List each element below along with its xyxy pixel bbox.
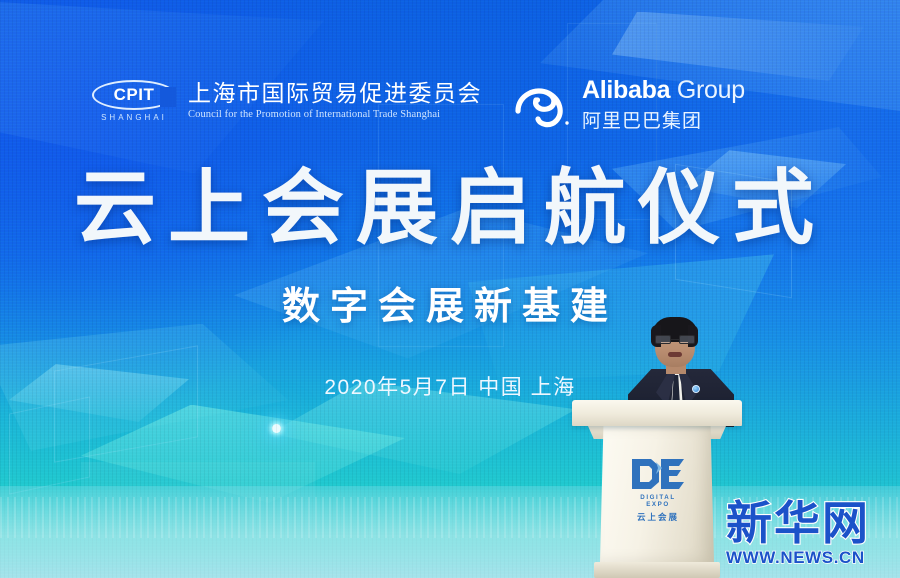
photo-canvas: CPIT SHANGHAI 上海市国际贸易促进委员会 Council for t… bbox=[0, 0, 900, 578]
podium-shoulder-right bbox=[710, 426, 726, 439]
alibaba-logo-text: Alibaba Group 阿里巴巴集团 bbox=[582, 76, 745, 133]
event-dateline: 2020年5月7日 中国 上海 bbox=[0, 371, 900, 401]
cpit-english-name: Council for the Promotion of Internation… bbox=[188, 109, 482, 120]
cpit-chinese-name: 上海市国际贸易促进委员会 bbox=[188, 81, 482, 105]
podium: DIGITAL EXPO 云上会展 bbox=[572, 400, 742, 578]
speaker-glasses-icon bbox=[655, 335, 695, 344]
cpit-mark-subtext: SHANGHAI bbox=[92, 113, 176, 122]
cpit-shanghai-logo: CPIT SHANGHAI 上海市国际贸易促进委员会 Council for t… bbox=[92, 80, 482, 122]
cpit-logo-text: 上海市国际贸易促进委员会 Council for the Promotion o… bbox=[188, 80, 482, 120]
event-headline: 云上会展启航仪式 bbox=[0, 168, 900, 250]
cpit-logo-mark: CPIT SHANGHAI bbox=[92, 80, 176, 122]
xinhua-chinese-name: 新华网 bbox=[726, 500, 894, 546]
alibaba-group-word: Group bbox=[677, 76, 745, 104]
digital-expo-monogram-icon bbox=[631, 458, 685, 490]
podium-logo: DIGITAL EXPO 云上会展 bbox=[630, 458, 686, 523]
speaker-mouth bbox=[668, 352, 682, 357]
alibaba-group-logo: Alibaba Group 阿里巴巴集团 bbox=[512, 76, 745, 133]
xinhua-watermark: 新华网 WWW.NEWS.CN bbox=[726, 500, 894, 568]
alibaba-wordmark: Alibaba bbox=[582, 76, 670, 104]
podium-logo-caption-en: DIGITAL EXPO bbox=[630, 494, 686, 508]
alibaba-smiley-icon bbox=[512, 81, 574, 129]
cpit-mark-text: CPIT bbox=[114, 85, 155, 105]
podium-top-ledge bbox=[572, 400, 742, 426]
cpit-oval-icon: CPIT bbox=[92, 80, 176, 110]
sponsor-logo-row: CPIT SHANGHAI 上海市国际贸易促进委员会 Council for t… bbox=[0, 72, 900, 136]
alibaba-english-name: Alibaba Group bbox=[582, 78, 745, 103]
podium-logo-caption-cn: 云上会展 bbox=[630, 511, 686, 523]
speaker-lapel-badge bbox=[692, 385, 700, 393]
alibaba-chinese-name: 阿里巴巴集团 bbox=[582, 106, 745, 133]
podium-base bbox=[594, 562, 720, 578]
xinhua-url: WWW.NEWS.CN bbox=[726, 548, 894, 568]
event-subtitle: 数字会展新基建 bbox=[0, 288, 900, 326]
podium-shoulder-left bbox=[588, 426, 604, 439]
